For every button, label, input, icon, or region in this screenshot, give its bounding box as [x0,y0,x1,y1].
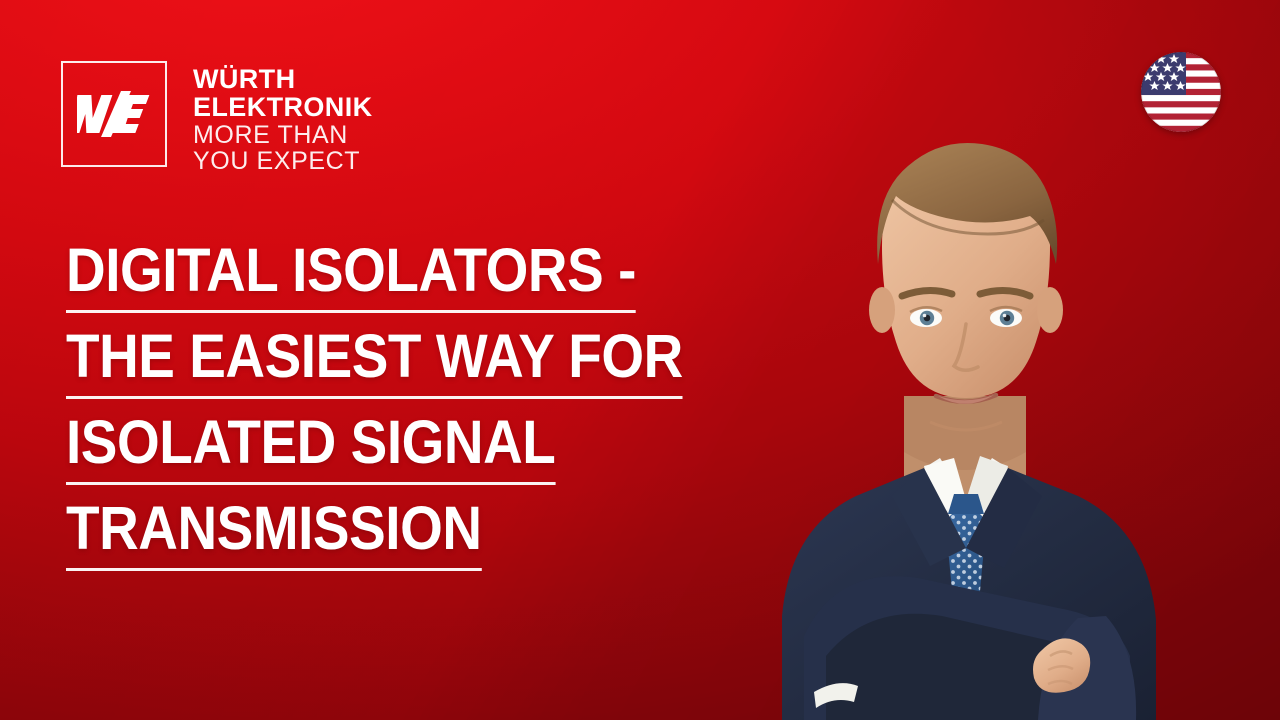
video-thumbnail: WÜRTH ELEKTRONIK MORE THAN YOU EXPECT [0,0,1280,720]
brand-wordmark: WÜRTH ELEKTRONIK MORE THAN YOU EXPECT [193,61,373,175]
headline-line-4: TRANSMISSION [66,498,482,571]
headline-line-3: ISOLATED SIGNAL [66,412,555,485]
brand-logo: WÜRTH ELEKTRONIK MORE THAN YOU EXPECT [61,61,373,175]
usa-flag-icon [1141,52,1221,132]
headline-line-1: DIGITAL ISOLATORS - [66,240,636,313]
brand-name-line-2: ELEKTRONIK [193,94,373,122]
brand-name-line-1: WÜRTH [193,66,373,94]
page-title: DIGITAL ISOLATORS - THE EASIEST WAY FOR … [66,240,826,571]
brand-tagline-line-1: MORE THAN [193,122,373,149]
brand-tagline-line-2: YOU EXPECT [193,148,373,175]
headline-line-2: THE EASIEST WAY FOR [66,326,683,399]
we-monogram-icon [61,61,167,167]
